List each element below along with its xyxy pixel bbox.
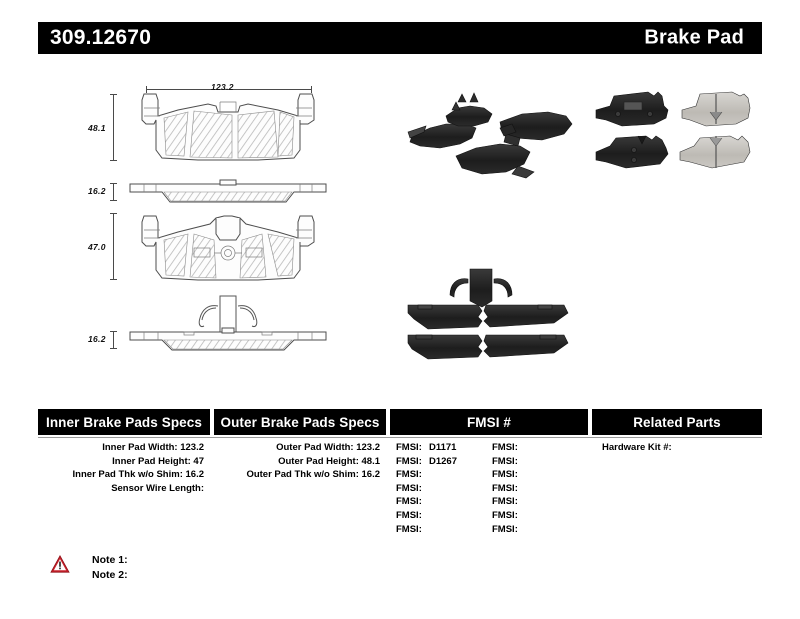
part-number: 309.12670: [50, 26, 151, 50]
fmsi-label: FMSI:: [396, 468, 429, 482]
note-item: Note 2:: [92, 568, 128, 583]
dimension-outer-pad-thickness: 16.2: [88, 186, 106, 196]
fmsi-entry: FMSI:D1171: [396, 441, 492, 455]
column-header-related-parts: Related Parts: [592, 409, 762, 435]
fmsi-value: D1171: [429, 441, 456, 455]
related-part-item: Hardware Kit #:: [602, 441, 762, 455]
spec-item: Outer Pad Thk w/o Shim: 16.2: [214, 468, 380, 482]
fmsi-label: FMSI:: [492, 495, 525, 509]
dim-tick: [110, 94, 117, 95]
warning-triangle-icon: [50, 555, 70, 573]
product-photo-pad-pairs: [592, 84, 752, 188]
dim-tick: [110, 183, 117, 184]
fmsi-entry: FMSI:D1267: [396, 455, 492, 469]
fmsi-label: FMSI:: [492, 468, 525, 482]
figure-inner-pad-edge-with-clip: [128, 292, 328, 354]
fmsi-entry: FMSI:: [396, 482, 492, 496]
fmsi-label: FMSI:: [396, 441, 429, 455]
fmsi-label: FMSI:: [492, 523, 525, 537]
fmsi-label: FMSI:: [396, 509, 429, 523]
spec-item: Inner Pad Height: 47: [38, 455, 204, 469]
fmsi-label: FMSI:: [492, 455, 525, 469]
header-banner: 309.12670 Brake Pad: [38, 22, 762, 54]
column-header-fmsi: FMSI #: [390, 409, 588, 435]
table-divider-rule: [38, 437, 762, 438]
technical-drawing-area: 123.2 48.1 16.2 47.0: [0, 60, 800, 400]
fmsi-entry: FMSI:: [492, 523, 588, 537]
fmsi-entry: FMSI:: [492, 495, 588, 509]
fmsi-label: FMSI:: [396, 482, 429, 496]
fmsi-entry: FMSI:: [492, 441, 588, 455]
dim-tick: [110, 331, 117, 332]
table-header-row: Inner Brake Pads Specs Outer Brake Pads …: [38, 409, 762, 435]
figure-outer-pad-face: [128, 90, 328, 165]
product-type-title: Brake Pad: [644, 27, 744, 50]
spec-item: Outer Pad Width: 123.2: [214, 441, 380, 455]
fmsi-entry: FMSI:: [396, 523, 492, 537]
spec-item: Outer Pad Height: 48.1: [214, 455, 380, 469]
fmsi-entry: FMSI:: [492, 455, 588, 469]
fmsi-entry: FMSI:: [396, 495, 492, 509]
column-header-inner-specs: Inner Brake Pads Specs: [38, 409, 210, 435]
spec-item: Inner Pad Width: 123.2: [38, 441, 204, 455]
fmsi-entry: FMSI:: [396, 468, 492, 482]
specifications-table: Inner Brake Pads Specs Outer Brake Pads …: [38, 409, 762, 435]
figure-inner-pad-face: [128, 210, 328, 285]
product-photo-pad-set: [400, 80, 580, 190]
dimension-line-outer-thickness: [113, 183, 114, 200]
spec-item: Sensor Wire Length:: [38, 482, 204, 496]
fmsi-label: FMSI:: [492, 509, 525, 523]
fmsi-column-left: FMSI:D1171 FMSI:D1267 FMSI: FMSI: FMSI: …: [396, 441, 492, 536]
dimension-outer-pad-height: 48.1: [88, 123, 106, 133]
fmsi-list: FMSI:D1171 FMSI:D1267 FMSI: FMSI: FMSI: …: [390, 441, 588, 536]
dimension-line-inner-thickness: [113, 331, 114, 348]
fmsi-column-right: FMSI: FMSI: FMSI: FMSI: FMSI: FMSI: FMSI…: [492, 441, 588, 536]
fmsi-label: FMSI:: [492, 441, 525, 455]
spec-item: Inner Pad Thk w/o Shim: 16.2: [38, 468, 204, 482]
dim-tick: [110, 160, 117, 161]
dimension-inner-pad-thickness: 16.2: [88, 334, 106, 344]
dimension-inner-pad-height: 47.0: [88, 242, 106, 252]
related-parts-list: Hardware Kit #:: [592, 441, 762, 536]
outer-specs-list: Outer Pad Width: 123.2 Outer Pad Height:…: [214, 441, 386, 536]
dimension-line-outer-height: [113, 94, 114, 160]
fmsi-label: FMSI:: [492, 482, 525, 496]
fmsi-entry: FMSI:: [492, 482, 588, 496]
fmsi-label: FMSI:: [396, 455, 429, 469]
fmsi-entry: FMSI:: [492, 468, 588, 482]
dim-tick: [110, 279, 117, 280]
table-body-row: Inner Pad Width: 123.2 Inner Pad Height:…: [38, 441, 762, 536]
inner-specs-list: Inner Pad Width: 123.2 Inner Pad Height:…: [38, 441, 210, 536]
fmsi-label: FMSI:: [396, 495, 429, 509]
fmsi-entry: FMSI:: [396, 509, 492, 523]
notes-section: Note 1: Note 2:: [50, 553, 128, 583]
dimension-line-inner-height: [113, 213, 114, 279]
dim-tick: [110, 200, 117, 201]
dim-tick: [110, 348, 117, 349]
fmsi-value: D1267: [429, 455, 457, 469]
column-header-outer-specs: Outer Brake Pads Specs: [214, 409, 386, 435]
note-list: Note 1: Note 2:: [92, 553, 128, 583]
dim-tick: [110, 213, 117, 214]
figure-outer-pad-edge: [128, 180, 328, 206]
fmsi-label: FMSI:: [396, 523, 429, 537]
product-photo-pad-edge-pair: [398, 265, 578, 365]
note-item: Note 1:: [92, 553, 128, 568]
fmsi-entry: FMSI:: [492, 509, 588, 523]
